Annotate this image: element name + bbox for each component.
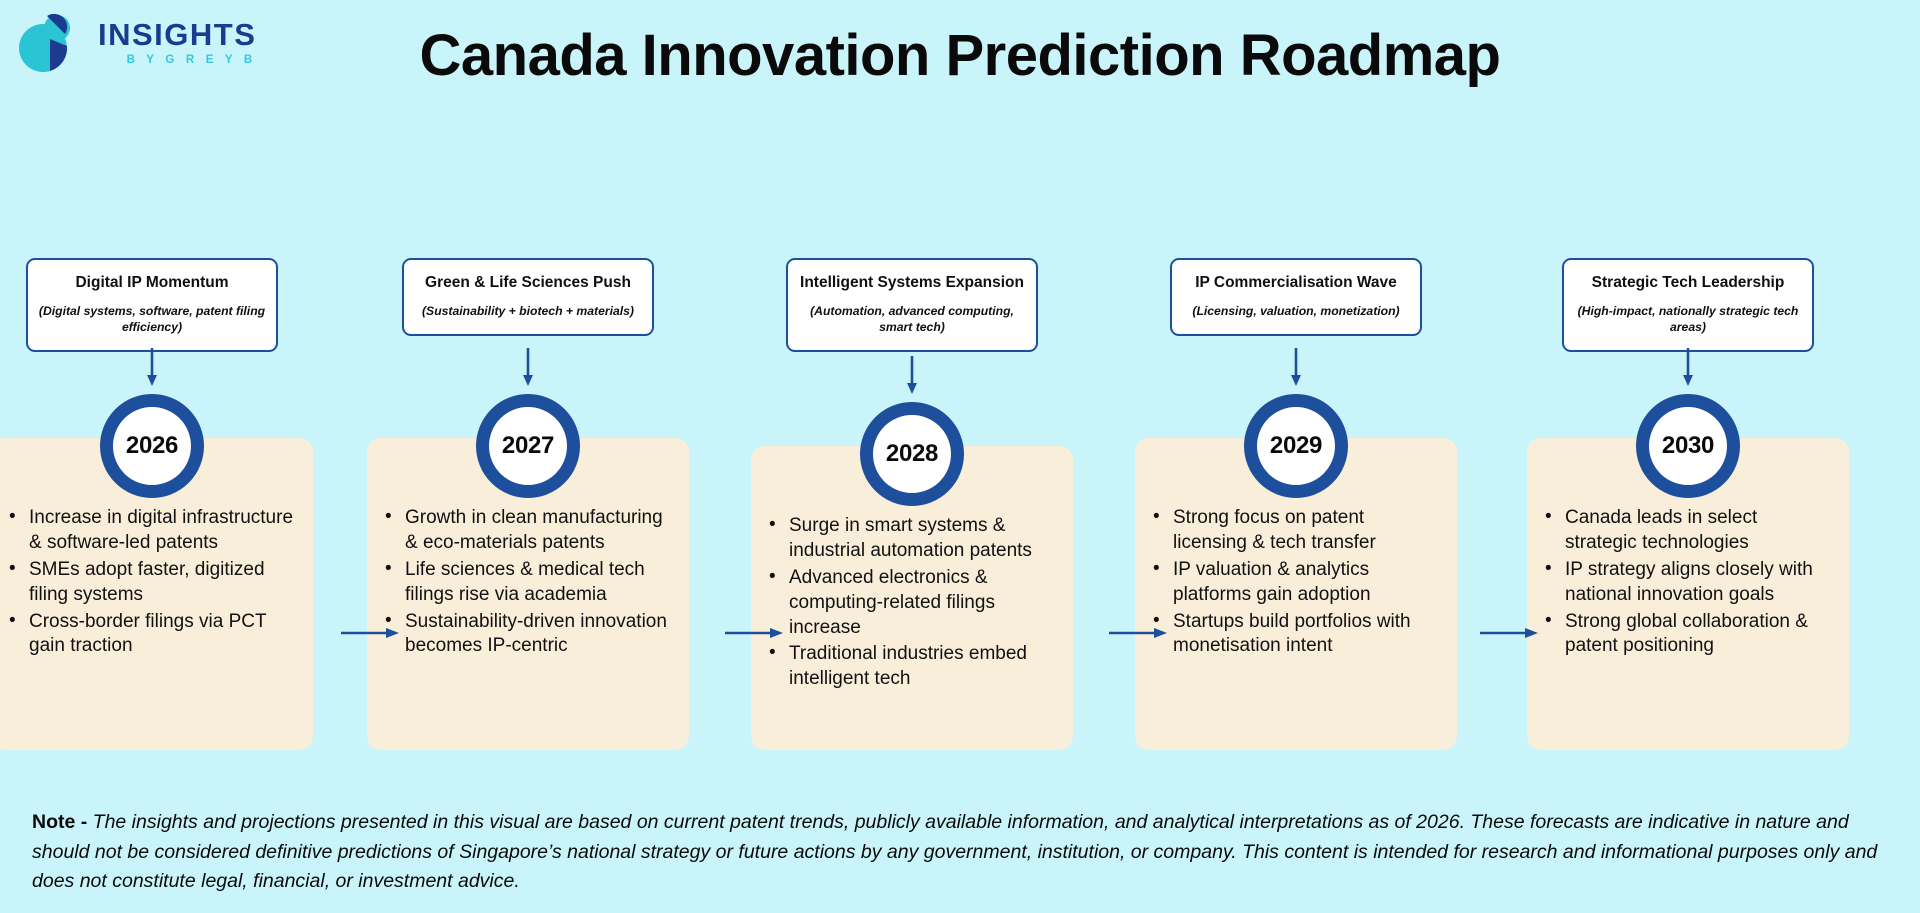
phase-bullet-list: Canada leads in select strategic technol… [1539,506,1833,659]
brand-logo[interactable]: INSIGHTS B Y G R E Y B [14,8,256,78]
list-item: Advanced electronics & computing-related… [763,566,1057,641]
year-label: 2027 [502,432,554,460]
roadmap-columns: Digital IP Momentum(Digital systems, sof… [0,258,1920,778]
list-item: Cross-border filings via PCT gain tracti… [3,610,297,660]
year-label: 2030 [1662,432,1714,460]
page-title: Canada Innovation Prediction Roadmap [380,18,1540,95]
down-arrow-icon [1681,348,1695,386]
year-label: 2026 [126,432,178,460]
down-arrow-icon [905,356,919,394]
phase-subtitle: (Licensing, valuation, monetization) [1182,304,1410,320]
phase-bullet-list: Strong focus on patent licensing & tech … [1147,506,1441,659]
roadmap-column: Green & Life Sciences Push(Sustainabilit… [352,258,704,336]
phase-title: Intelligent Systems Expansion [798,273,1026,292]
list-item: Strong global collaboration & patent pos… [1539,610,1833,660]
list-item: IP strategy aligns closely with national… [1539,558,1833,608]
phase-subtitle: (Sustainability + biotech + materials) [414,304,642,320]
list-item: Strong focus on patent licensing & tech … [1147,506,1441,556]
list-item: Canada leads in select strategic technol… [1539,506,1833,556]
right-arrow-icon [725,626,783,640]
year-marker[interactable]: 2028 [860,402,964,506]
right-arrow-icon [1109,626,1167,640]
phase-subtitle: (Automation, advanced computing, smart t… [798,304,1026,335]
phase-header-box[interactable]: IP Commercialisation Wave(Licensing, val… [1170,258,1422,336]
right-arrow-icon [341,626,399,640]
roadmap-column: Strategic Tech Leadership(High-impact, n… [1512,258,1864,352]
list-item: Growth in clean manufacturing & eco-mate… [379,506,673,556]
logo-subtitle: B Y G R E Y B [98,55,256,67]
phase-header-box[interactable]: Green & Life Sciences Push(Sustainabilit… [402,258,654,336]
list-item: Increase in digital infrastructure & sof… [3,506,297,556]
list-item: Life sciences & medical tech filings ris… [379,558,673,608]
year-marker[interactable]: 2026 [100,394,204,498]
phase-subtitle: (High-impact, nationally strategic tech … [1574,304,1802,335]
logo-title: INSIGHTS [98,19,256,50]
note-text: The insights and projections presented i… [32,811,1877,892]
list-item: Surge in smart systems & industrial auto… [763,514,1057,564]
phase-bullet-list: Increase in digital infrastructure & sof… [3,506,297,659]
list-item: Startups build portfolios with monetisat… [1147,610,1441,660]
phase-subtitle: (Digital systems, software, patent filin… [38,304,266,335]
down-arrow-icon [521,348,535,386]
phase-header-box[interactable]: Digital IP Momentum(Digital systems, sof… [26,258,278,352]
phase-title: Digital IP Momentum [38,273,266,292]
phase-title: Green & Life Sciences Push [414,273,642,292]
phase-header-box[interactable]: Strategic Tech Leadership(High-impact, n… [1562,258,1814,352]
phase-bullet-list: Surge in smart systems & industrial auto… [763,514,1057,692]
roadmap-column: Digital IP Momentum(Digital systems, sof… [0,258,328,352]
list-item: Traditional industries embed intelligent… [763,642,1057,692]
insights-logo-mark-icon [14,8,84,78]
note-label: Note - [32,811,87,833]
year-marker[interactable]: 2029 [1244,394,1348,498]
phase-header-box[interactable]: Intelligent Systems Expansion(Automation… [786,258,1038,352]
list-item: IP valuation & analytics platforms gain … [1147,558,1441,608]
phase-title: IP Commercialisation Wave [1182,273,1410,292]
down-arrow-icon [1289,348,1303,386]
year-marker[interactable]: 2027 [476,394,580,498]
phase-bullet-list: Growth in clean manufacturing & eco-mate… [379,506,673,659]
roadmap-column: Intelligent Systems Expansion(Automation… [736,258,1088,352]
phase-title: Strategic Tech Leadership [1574,273,1802,292]
list-item: SMEs adopt faster, digitized filing syst… [3,558,297,608]
year-label: 2029 [1270,432,1322,460]
list-item: Sustainability-driven innovation becomes… [379,610,673,660]
year-label: 2028 [886,440,938,468]
year-marker[interactable]: 2030 [1636,394,1740,498]
down-arrow-icon [145,348,159,386]
roadmap-column: IP Commercialisation Wave(Licensing, val… [1120,258,1472,336]
right-arrow-icon [1480,626,1538,640]
disclaimer-note: Note - The insights and projections pres… [32,808,1892,897]
infographic-canvas: INSIGHTS B Y G R E Y B Canada Innovation… [0,0,1920,913]
